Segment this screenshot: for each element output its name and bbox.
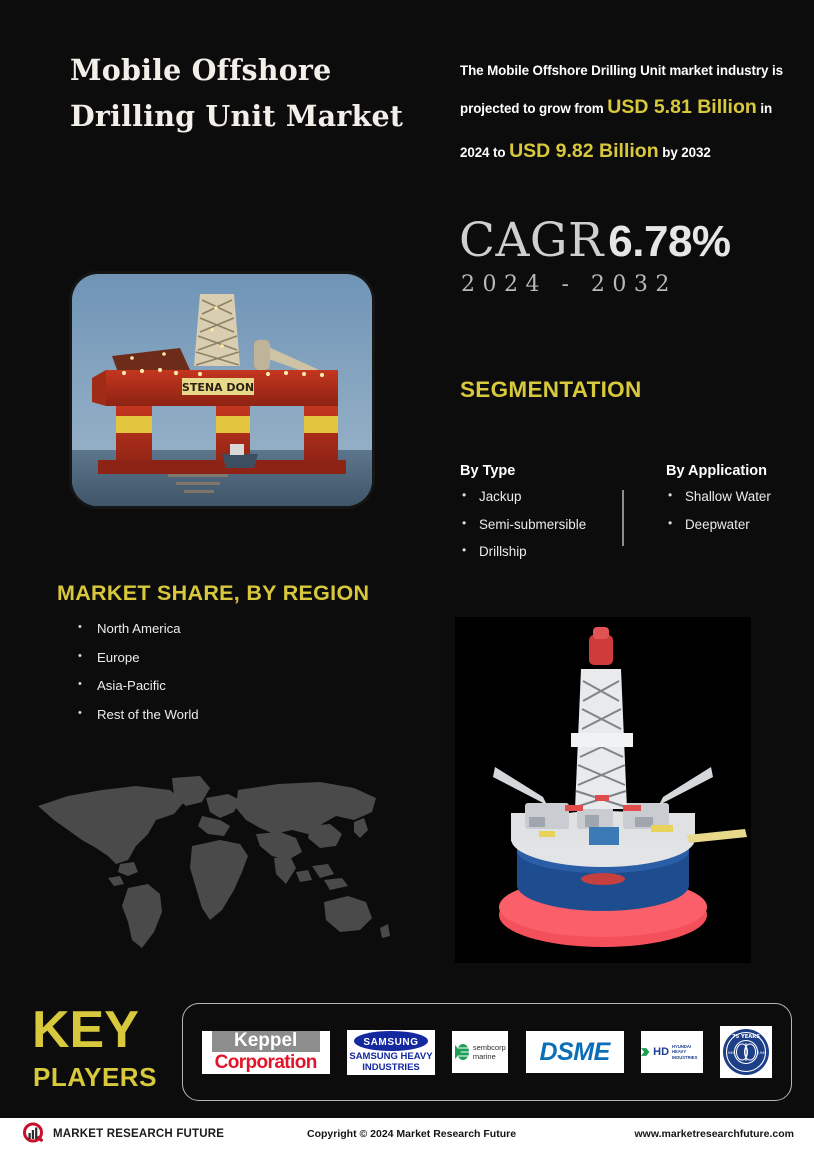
svg-text:1945: 1945 xyxy=(726,1051,735,1055)
footer-website[interactable]: www.marketresearchfuture.com xyxy=(634,1128,794,1140)
samsung-heavy-industries-logo[interactable]: SAMSUNG SAMSUNG HEAVY INDUSTRIES xyxy=(347,1030,435,1075)
segment-column-by-application: By Application Shallow Water Deepwater xyxy=(666,463,806,545)
svg-text:75 YEARS: 75 YEARS xyxy=(732,1034,760,1040)
list-item: Drillship xyxy=(460,545,620,560)
list-item: Europe xyxy=(78,651,199,666)
list-item: Asia-Pacific xyxy=(78,679,199,694)
hd-hyundai-heavy-industries-logo[interactable]: HD HYUNDAI HEAVY INDUSTRIES xyxy=(641,1031,703,1073)
svg-text:1949: 1949 xyxy=(758,1051,767,1055)
dsme-logo[interactable]: DSME xyxy=(526,1031,624,1073)
segment-title: By Type xyxy=(460,463,620,479)
key-players-title-line1: KEY xyxy=(32,1004,139,1056)
list-item: Semi-submersible xyxy=(460,518,620,533)
samsung-industries-word: INDUSTRIES xyxy=(349,1063,432,1074)
segmentation-divider xyxy=(622,490,624,546)
samsung-heavy-word: SAMSUNG HEAVY xyxy=(349,1052,432,1063)
market-summary-text: The Mobile Offshore Drilling Unit market… xyxy=(460,56,798,174)
market-value-2024: USD 5.81 Billion xyxy=(607,96,757,118)
market-research-future-logo-icon xyxy=(22,1122,46,1146)
hd-word: HD xyxy=(653,1046,669,1058)
corporation-word: Corporation xyxy=(215,1052,317,1074)
seventy-five-years-badge-logo[interactable]: 75 YEARS 1945 1949 xyxy=(720,1026,772,1078)
footer-brand-group: MARKET RESEARCH FUTURE xyxy=(22,1122,224,1146)
market-share-heading: MARKET SHARE, BY REGION xyxy=(57,581,369,606)
list-item: North America xyxy=(78,622,199,637)
page-title: Mobile Offshore Drilling Unit Market xyxy=(70,47,430,139)
footer-bar: MARKET RESEARCH FUTURE Copyright © 2024 … xyxy=(0,1118,814,1150)
cagr-block: CAGR 6.78% xyxy=(459,213,731,268)
anniversary-badge-icon: 75 YEARS 1945 1949 xyxy=(721,1027,771,1077)
list-item: Rest of the World xyxy=(78,708,199,723)
keppel-word: Keppel xyxy=(234,1031,297,1052)
segment-item-list: Shallow Water Deepwater xyxy=(666,490,806,532)
sembcorp-word: sembcorp xyxy=(473,1043,506,1052)
market-value-2032: USD 9.82 Billion xyxy=(509,140,659,162)
sembcorp-marine-logo[interactable]: sembcorp marine xyxy=(452,1031,508,1073)
segment-item-list: Jackup Semi-submersible Drillship xyxy=(460,490,620,560)
key-players-logo-container: Keppel Corporation SAMSUNG SAMSUNG HEAVY… xyxy=(182,1003,792,1101)
segment-column-by-type: By Type Jackup Semi-submersible Drillshi… xyxy=(460,463,620,573)
samsung-word: SAMSUNG xyxy=(363,1037,418,1048)
key-players-title-line2: PLAYERS xyxy=(33,1064,157,1090)
list-item: Deepwater xyxy=(666,518,806,533)
world-map-graphic xyxy=(24,768,424,968)
segmentation-heading: SEGMENTATION xyxy=(460,377,642,403)
summary-part-3: by 2032 xyxy=(662,145,710,160)
cagr-label: CAGR xyxy=(459,213,604,268)
list-item: Shallow Water xyxy=(666,490,806,505)
hd-chevron-icon xyxy=(641,1046,650,1058)
keppel-corporation-logo[interactable]: Keppel Corporation xyxy=(202,1031,330,1074)
list-item: Jackup xyxy=(460,490,620,505)
footer-copyright: Copyright © 2024 Market Research Future xyxy=(307,1128,516,1140)
cagr-value: 6.78% xyxy=(608,217,730,266)
infographic-page: Mobile Offshore Drilling Unit Market The… xyxy=(0,0,814,1150)
sembcorp-globe-icon xyxy=(455,1043,470,1062)
heavy-industries-word: HEAVY INDUSTRIES xyxy=(672,1049,703,1060)
segment-title: By Application xyxy=(666,463,806,479)
region-list: North America Europe Asia-Pacific Rest o… xyxy=(78,622,199,736)
marine-word: marine xyxy=(473,1052,506,1061)
svg-text:STENA DON: STENA DON xyxy=(182,381,254,394)
offshore-rig-photo: STENA DON xyxy=(72,274,372,506)
footer-brand-text: MARKET RESEARCH FUTURE xyxy=(53,1128,224,1140)
drilling-vessel-photo xyxy=(455,617,751,963)
dsme-word: DSME xyxy=(540,1038,610,1067)
cagr-period: 2024 - 2032 xyxy=(461,272,677,297)
